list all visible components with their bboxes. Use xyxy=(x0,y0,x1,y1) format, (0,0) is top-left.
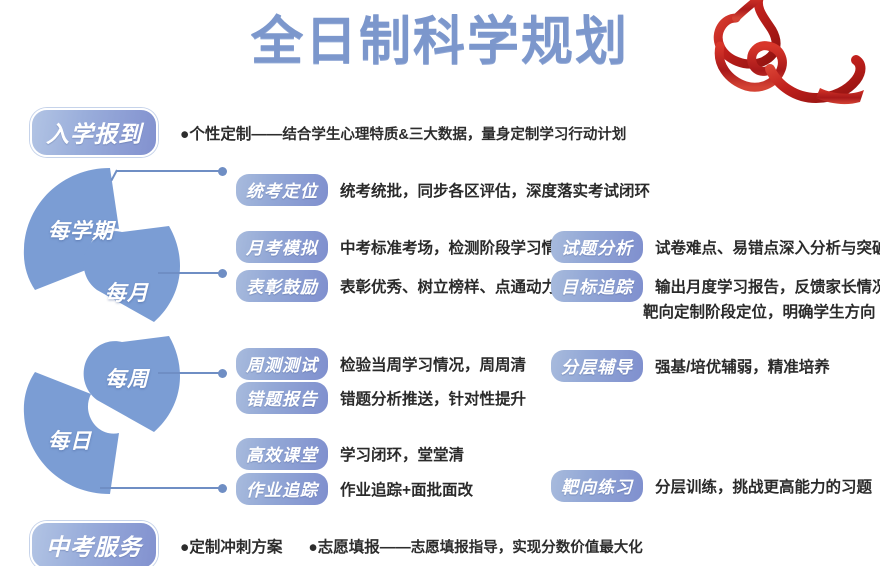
bullet-icon: ● xyxy=(180,539,189,556)
enrollment-detail: 结合学生心理特质&三大数据，量身定制学习行动计划 xyxy=(282,127,626,143)
item-row: 周测测试 检验当周学习情况，周周清 xyxy=(236,348,526,380)
connector-day xyxy=(100,487,230,497)
badge-zuoye-zhuizong[interactable]: 作业追踪 xyxy=(236,473,328,505)
badge-bakiang-lianxi[interactable]: 靶向练习 xyxy=(551,470,643,502)
badge-gaoxiao-ketang[interactable]: 高效课堂 xyxy=(236,438,328,470)
stage-arc-ring xyxy=(18,160,203,500)
enrollment-description: ●个性定制——结合学生心理特质&三大数据，量身定制学习行动计划 xyxy=(180,122,626,144)
item-row: 高效课堂 学习闭环，堂堂清 xyxy=(236,438,464,470)
exam-service-dash: —— xyxy=(380,539,411,556)
item-row: 错题报告 错题分析推送，针对性提升 xyxy=(236,382,526,414)
item-row: 月考模拟 中考标准考场，检测阶段学习情况 xyxy=(236,231,573,263)
exam-service-row: 中考服务 ●定制冲刺方案●志愿填报——志愿填报指导，实现分数价值最大化 xyxy=(30,521,643,566)
item-text: 强基/培优辅弱，精准培养 xyxy=(655,355,830,377)
item-text: 表彰优秀、树立榜样、点通动力 xyxy=(340,275,557,297)
item-text: 作业追踪+面批面改 xyxy=(340,478,473,500)
bullet-icon: ● xyxy=(308,539,317,556)
exam-service-item-1: 定制冲刺方案 xyxy=(189,539,282,556)
exam-service-item-2: 志愿填报 xyxy=(318,539,380,556)
enrollment-dash: —— xyxy=(251,126,282,143)
item-row: 靶向练习 分层训练，挑战更高能力的习题 xyxy=(551,470,872,502)
item-row: 作业追踪 作业追踪+面批面改 xyxy=(236,473,473,505)
badge-exam-service[interactable]: 中考服务 xyxy=(30,521,158,566)
item-text-secondary: 靶向定制阶段定位，明确学生方向 xyxy=(643,300,876,322)
item-row: 目标追踪 输出月度学习报告，反馈家长情况 xyxy=(551,270,880,302)
infographic-canvas: 全日制科学规划 入学报到 ●个性定制——结合学生心理特质&三大数据，量身定制学习… xyxy=(0,0,880,566)
item-text: 统考统批，同步各区评估，深度落实考试闭环 xyxy=(340,179,650,201)
item-text: 学习闭环，堂堂清 xyxy=(340,443,464,465)
badge-cuoti-baogao[interactable]: 错题报告 xyxy=(236,382,328,414)
bullet-icon: ● xyxy=(180,126,189,143)
connector-week xyxy=(158,372,230,382)
item-text: 中考标准考场，检测阶段学习情况 xyxy=(340,236,573,258)
badge-yuekao-moni[interactable]: 月考模拟 xyxy=(236,231,328,263)
item-row: 分层辅导 强基/培优辅弱，精准培养 xyxy=(551,350,830,382)
arc-segment-week xyxy=(84,336,180,432)
badge-biaozhang-guli[interactable]: 表彰鼓励 xyxy=(236,270,328,302)
exam-service-description: ●定制冲刺方案●志愿填报——志愿填报指导，实现分数价值最大化 xyxy=(180,535,643,557)
enrollment-row: 入学报到 ●个性定制——结合学生心理特质&三大数据，量身定制学习行动计划 xyxy=(30,108,626,157)
item-text: 检验当周学习情况，周周清 xyxy=(340,353,526,375)
red-ribbon-icon xyxy=(696,0,876,134)
item-text: 试卷难点、易错点深入分析与突破 xyxy=(655,236,880,258)
item-row: 表彰鼓励 表彰优秀、树立榜样、点通动力 xyxy=(236,270,557,302)
connector-term xyxy=(100,170,230,194)
badge-tongkao-dingwei[interactable]: 统考定位 xyxy=(236,174,328,206)
exam-service-detail: 志愿填报指导，实现分数价值最大化 xyxy=(411,540,643,556)
item-text: 输出月度学习报告，反馈家长情况 xyxy=(655,275,880,297)
badge-mubiao-zhuizong[interactable]: 目标追踪 xyxy=(551,270,643,302)
item-row: 试题分析 试卷难点、易错点深入分析与突破 xyxy=(551,231,880,263)
item-row: 统考定位 统考统批，同步各区评估，深度落实考试闭环 xyxy=(236,174,650,206)
badge-fenceng-fudao[interactable]: 分层辅导 xyxy=(551,350,643,382)
badge-zhouce-ceshi[interactable]: 周测测试 xyxy=(236,348,328,380)
enrollment-item: 个性定制 xyxy=(189,126,251,143)
item-text: 错题分析推送，针对性提升 xyxy=(340,387,526,409)
badge-shiti-fenxi[interactable]: 试题分析 xyxy=(551,231,643,263)
item-text: 分层训练，挑战更高能力的习题 xyxy=(655,475,872,497)
badge-enrollment[interactable]: 入学报到 xyxy=(30,108,158,157)
connector-month xyxy=(158,272,230,282)
